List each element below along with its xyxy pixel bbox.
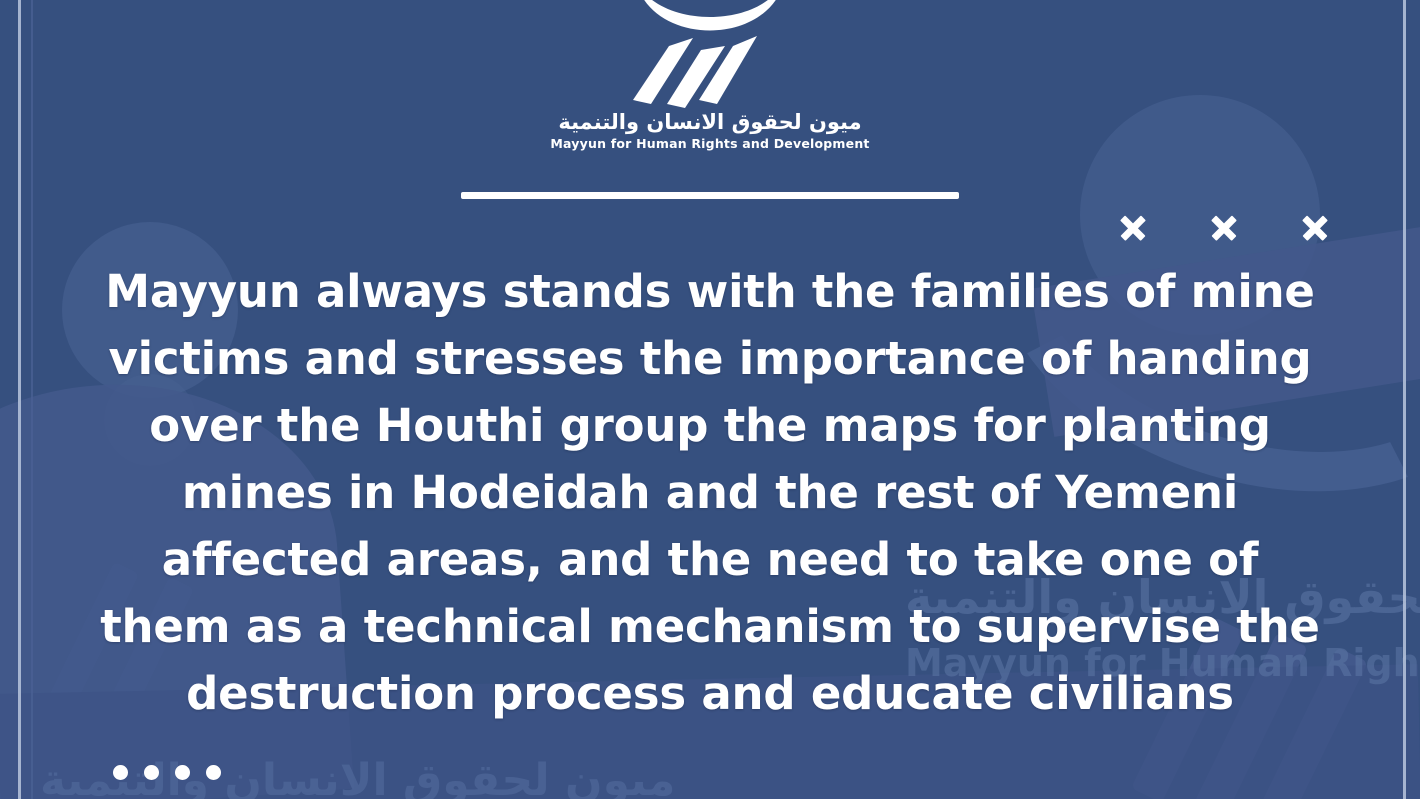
statement-text: Mayyun always stands with the families o… xyxy=(0,258,1420,727)
statement-line: victims and stresses the importance of h… xyxy=(54,325,1366,392)
mayyun-emblem-icon xyxy=(615,0,805,120)
statement-line: over the Houthi group the maps for plant… xyxy=(54,392,1366,459)
statement-line: Mayyun always stands with the families o… xyxy=(54,258,1366,325)
dot xyxy=(144,765,159,780)
poster-canvas: ميون لحقوق الانسان والتنمية Mayyun for H… xyxy=(0,0,1420,799)
logo-divider xyxy=(461,192,959,199)
organization-logo: ميون لحقوق الانسان والتنمية Mayyun for H… xyxy=(0,0,1420,151)
poster-content: ميون لحقوق الانسان والتنمية Mayyun for H… xyxy=(0,0,1420,799)
dot xyxy=(113,765,128,780)
statement-line: them as a technical mechanism to supervi… xyxy=(54,593,1366,660)
statement-line: mines in Hodeidah and the rest of Yemeni xyxy=(54,459,1366,526)
x-marks-row xyxy=(1118,213,1330,243)
decorative-dots xyxy=(113,765,221,780)
logo-arabic-name: ميون لحقوق الانسان والتنمية xyxy=(550,112,869,133)
statement-line: destruction process and educate civilian… xyxy=(54,660,1366,727)
statement-line: affected areas, and the need to take one… xyxy=(54,526,1366,593)
close-icon xyxy=(1209,213,1239,243)
logo-text-block: ميون لحقوق الانسان والتنمية Mayyun for H… xyxy=(550,112,869,151)
close-icon xyxy=(1300,213,1330,243)
logo-english-name: Mayyun for Human Rights and Development xyxy=(550,138,869,151)
dot xyxy=(206,765,221,780)
dot xyxy=(175,765,190,780)
close-icon xyxy=(1118,213,1148,243)
